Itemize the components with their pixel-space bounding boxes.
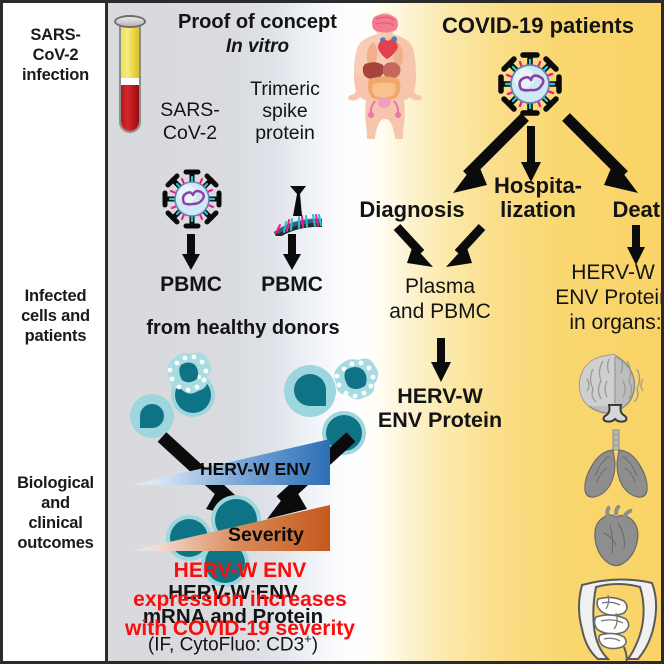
row-label-line: Biological	[3, 473, 108, 493]
row-label-line: clinical	[3, 513, 108, 533]
arrow-hospitalization-to-plasma	[438, 225, 486, 273]
tube-blood-layer	[121, 85, 139, 131]
pbmc-cell	[130, 394, 174, 438]
row-label-column: SARS- CoV-2 infection Infected cells and…	[3, 3, 108, 661]
branch-label-death: Death	[588, 197, 661, 223]
row-label-line: and	[3, 493, 108, 513]
row-label-infected-cells-and-patients: Infected cells and patients	[3, 286, 108, 346]
pbmc-granulocyte	[163, 351, 213, 397]
arrow-diagnosis-to-plasma	[393, 225, 441, 273]
healthy-donors-label: from healthy donors	[128, 317, 358, 340]
row-label-line: patients	[3, 326, 108, 346]
cell-nucleus	[294, 374, 326, 406]
row-label-line: cells and	[3, 306, 108, 326]
row-label-line: infection	[3, 65, 108, 85]
organs-heading-line3: in organs:	[543, 311, 661, 335]
trimeric-spike-label-line1: Trimeric	[236, 78, 334, 101]
heart-icon	[590, 505, 642, 567]
row-label-line: outcomes	[3, 533, 108, 553]
conclusion-line3: with COVID-19 severity	[113, 617, 367, 641]
plasma-outcome-line2: ENV Protein	[360, 408, 520, 433]
organs-heading-line2: ENV Protein	[533, 286, 661, 310]
human-body-organs-icon	[343, 9, 427, 139]
plasma-label-line2: and PBMC	[365, 300, 515, 324]
conclusion-line2: expression increases	[118, 588, 362, 612]
arrow-virus-to-pbmc	[181, 234, 201, 270]
row-label-line: SARS-	[3, 25, 108, 45]
lungs-icon	[576, 428, 656, 500]
herv-w-env-wedge-label: HERV-W ENV	[200, 459, 311, 480]
row-label-biological-and-clinical-outcomes: Biological and clinical outcomes	[3, 473, 108, 554]
plasma-label-line1: Plasma	[370, 275, 510, 299]
trimeric-spike-label-line2: spike	[236, 100, 334, 123]
sars-cov-2-label-line1: SARS-	[143, 99, 237, 122]
intestines-icon	[568, 571, 661, 661]
arrow-plasma-to-protein	[430, 338, 452, 382]
cell-nucleus	[140, 404, 164, 428]
proof-of-concept-heading: Proof of concept	[150, 11, 365, 34]
branch-label-hospitalization-line2: lization	[478, 197, 598, 223]
pbmc-cell	[284, 365, 336, 417]
trimeric-spike-label-line3: protein	[236, 122, 334, 145]
row-label-line: Infected	[3, 286, 108, 306]
in-vitro-subheading: In vitro	[150, 36, 365, 58]
tube-cap	[114, 15, 146, 28]
coronavirus-icon	[158, 166, 226, 232]
scientific-figure: Proof of concept In vitro SARS- CoV-2 Tr…	[0, 0, 664, 664]
figure-canvas: Proof of concept In vitro SARS- CoV-2 Tr…	[108, 3, 661, 661]
pbmc-label-left: PBMC	[146, 273, 236, 297]
row-label-line: CoV-2	[3, 45, 108, 65]
tube-body	[119, 21, 141, 133]
tube-plasma-layer	[121, 21, 139, 78]
branch-label-diagnosis: Diagnosis	[348, 197, 476, 223]
organs-heading-line1: HERV-W	[548, 261, 661, 285]
brain-icon	[573, 351, 657, 423]
arrow-death-to-organs	[626, 225, 646, 265]
branch-label-hospitalization-line1: Hospita-	[478, 173, 598, 199]
arrow-spike-to-pbmc	[282, 234, 302, 270]
sars-cov-2-label-line2: CoV-2	[143, 122, 237, 145]
spike-protein-icon	[268, 178, 330, 236]
severity-wedge-label: Severity	[228, 524, 304, 547]
row-label-sars-cov-2-infection: SARS- CoV-2 infection	[3, 25, 108, 85]
coronavirus-icon	[493, 48, 567, 120]
pbmc-label-right: PBMC	[247, 273, 337, 297]
plasma-outcome-line1: HERV-W	[370, 384, 510, 409]
covid-19-patients-heading: COVID-19 patients	[418, 13, 658, 39]
conclusion-line1: HERV-W ENV	[130, 559, 350, 583]
